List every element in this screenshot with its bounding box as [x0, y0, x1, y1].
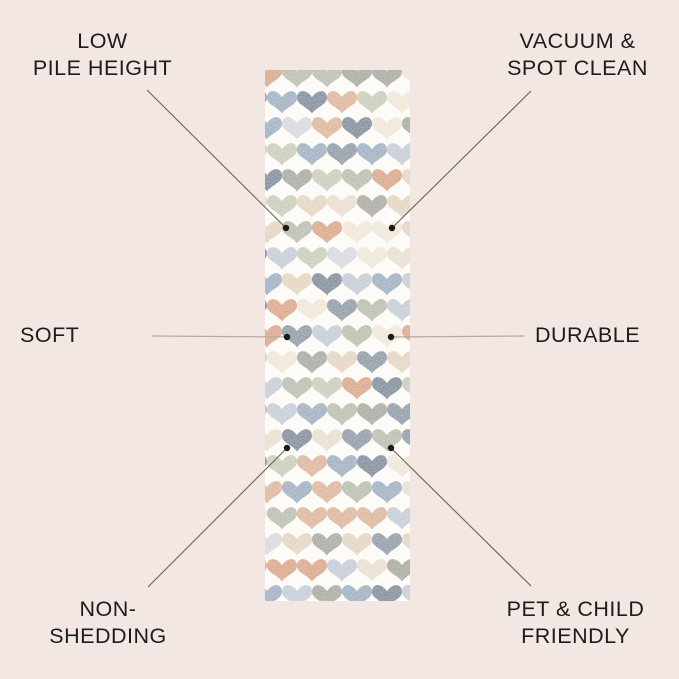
rug-heart-texture	[267, 351, 297, 373]
rug-heart-texture	[402, 533, 410, 555]
rug-heart-texture	[282, 273, 312, 295]
rug-heart-texture	[342, 481, 372, 503]
rug-heart-texture	[297, 195, 327, 217]
rug-heart-texture	[265, 169, 282, 191]
heart-pattern-rug	[265, 70, 410, 601]
rug-heart-texture	[357, 455, 387, 477]
rug-heart-texture	[312, 481, 342, 503]
rug-heart-texture	[267, 455, 297, 477]
rug-heart-texture	[265, 273, 282, 295]
rug-heart-texture	[297, 143, 327, 165]
rug-heart-texture	[357, 403, 387, 425]
rug-heart-texture	[387, 403, 410, 425]
rug-heart-texture	[282, 585, 312, 601]
label-low-pile-height: LOW PILE HEIGHT	[10, 28, 195, 82]
rug-heart-texture	[297, 559, 327, 581]
rug-heart-texture	[265, 70, 282, 87]
rug-heart-texture	[357, 91, 387, 113]
rug-heart-texture	[267, 403, 297, 425]
rug-heart-texture	[357, 299, 387, 321]
rug-heart-texture	[327, 351, 357, 373]
rug-heart-texture	[312, 325, 342, 347]
label-durable: DURABLE	[535, 322, 675, 349]
rug-heart-texture	[282, 117, 312, 139]
rug-heart-texture	[282, 481, 312, 503]
rug-heart-texture	[267, 91, 297, 113]
rug-heart-texture	[402, 221, 410, 243]
rug-heart-texture	[327, 559, 357, 581]
rug-heart-texture	[297, 507, 327, 529]
rug-heart-texture	[265, 507, 267, 529]
rug-heart-texture	[327, 455, 357, 477]
rug-heart-texture	[402, 429, 410, 451]
rug-heart-texture	[282, 377, 312, 399]
rug-heart-texture	[265, 221, 282, 243]
rug-heart-texture	[282, 325, 312, 347]
rug-heart-texture	[372, 533, 402, 555]
rug-heart-texture	[402, 481, 410, 503]
label-vacuum-spot-clean: VACUUM & SPOT CLEAN	[485, 28, 670, 82]
rug-heart-pattern	[265, 70, 410, 601]
rug-heart-texture	[312, 169, 342, 191]
rug-heart-texture	[265, 351, 267, 373]
rug-heart-texture	[387, 455, 410, 477]
rug-heart-texture	[265, 117, 282, 139]
rug-heart-texture	[372, 585, 402, 601]
rug-heart-texture	[387, 559, 410, 581]
rug-heart-texture	[387, 351, 410, 373]
rug-heart-texture	[357, 247, 387, 269]
rug-heart-texture	[342, 70, 372, 87]
leader-pet-child	[391, 448, 531, 586]
rug-heart-texture	[265, 533, 282, 555]
rug-heart-texture	[265, 429, 282, 451]
rug-heart-texture	[372, 169, 402, 191]
rug-heart-texture	[387, 507, 410, 529]
rug-heart-texture	[265, 559, 267, 581]
rug-heart-texture	[297, 351, 327, 373]
rug-heart-texture	[357, 507, 387, 529]
rug-heart-texture	[372, 70, 402, 87]
rug-heart-texture	[372, 273, 402, 295]
label-pet-child-friendly: PET & CHILD FRIENDLY	[478, 596, 673, 650]
rug-heart-texture	[372, 377, 402, 399]
rug-heart-texture	[357, 195, 387, 217]
rug-heart-texture	[265, 325, 282, 347]
rug-heart-texture	[297, 91, 327, 113]
rug-heart-texture	[327, 91, 357, 113]
rug-heart-texture	[267, 247, 297, 269]
rug-heart-texture	[402, 117, 410, 139]
rug-heart-texture	[327, 247, 357, 269]
leader-vacuum	[392, 91, 531, 228]
rug-heart-texture	[402, 585, 410, 601]
rug-heart-texture	[357, 143, 387, 165]
rug-heart-texture	[297, 299, 327, 321]
rug-heart-texture	[372, 221, 402, 243]
rug-heart-texture	[312, 377, 342, 399]
rug-heart-texture	[402, 169, 410, 191]
rug-heart-texture	[387, 195, 410, 217]
rug-heart-texture	[372, 117, 402, 139]
rug-heart-texture	[342, 221, 372, 243]
rug-heart-texture	[357, 351, 387, 373]
rug-heart-texture	[282, 533, 312, 555]
rug-heart-texture	[265, 195, 267, 217]
rug-heart-texture	[312, 221, 342, 243]
rug-heart-texture	[297, 247, 327, 269]
rug-heart-texture	[342, 273, 372, 295]
rug-heart-texture	[372, 481, 402, 503]
rug-heart-texture	[265, 403, 267, 425]
rug-heart-texture	[297, 403, 327, 425]
rug-heart-texture	[372, 325, 402, 347]
rug-heart-texture	[342, 377, 372, 399]
rug-heart-texture	[267, 195, 297, 217]
rug-heart-texture	[387, 143, 410, 165]
rug-heart-texture	[342, 585, 372, 601]
rug-heart-texture	[372, 429, 402, 451]
rug-heart-texture	[402, 273, 410, 295]
label-soft: SOFT	[20, 322, 130, 349]
rug-heart-texture	[327, 143, 357, 165]
rug-heart-texture	[312, 273, 342, 295]
rug-heart-texture	[402, 70, 410, 87]
rug-heart-texture	[312, 533, 342, 555]
rug-heart-texture	[265, 91, 267, 113]
rug-heart-texture	[267, 143, 297, 165]
rug-heart-texture	[402, 377, 410, 399]
rug-heart-texture	[342, 533, 372, 555]
rug-heart-texture	[265, 585, 282, 601]
rug-heart-texture	[402, 325, 410, 347]
rug-heart-texture	[342, 169, 372, 191]
rug-heart-texture	[265, 455, 267, 477]
rug-heart-texture	[342, 429, 372, 451]
rug-heart-texture	[327, 507, 357, 529]
rug-heart-texture	[265, 247, 267, 269]
rug-heart-texture	[387, 299, 410, 321]
rug-heart-texture	[282, 429, 312, 451]
rug-heart-texture	[342, 117, 372, 139]
rug-feature-infographic: LOW PILE HEIGHT VACUUM & SPOT CLEAN SOFT…	[0, 0, 679, 679]
rug-heart-texture	[327, 195, 357, 217]
rug-heart-texture	[265, 377, 282, 399]
rug-heart-texture	[267, 299, 297, 321]
rug-heart-texture	[342, 325, 372, 347]
leader-durable	[391, 336, 524, 337]
rug-heart-texture	[265, 299, 267, 321]
rug-heart-texture	[282, 169, 312, 191]
rug-heart-texture	[267, 559, 297, 581]
rug-heart-texture	[265, 143, 267, 165]
rug-heart-texture	[327, 299, 357, 321]
rug-heart-texture	[312, 117, 342, 139]
rug-heart-texture	[267, 507, 297, 529]
rug-heart-texture	[357, 559, 387, 581]
rug-heart-texture	[297, 455, 327, 477]
rug-heart-texture	[265, 481, 282, 503]
rug-heart-texture	[387, 91, 410, 113]
rug-heart-texture	[327, 403, 357, 425]
rug-heart-texture	[387, 247, 410, 269]
rug-heart-texture	[282, 70, 312, 87]
rug-heart-texture	[282, 221, 312, 243]
rug-heart-texture	[312, 429, 342, 451]
rug-heart-texture	[312, 585, 342, 601]
rug-heart-texture	[312, 70, 342, 87]
label-non-shedding: NON- SHEDDING	[8, 596, 208, 650]
